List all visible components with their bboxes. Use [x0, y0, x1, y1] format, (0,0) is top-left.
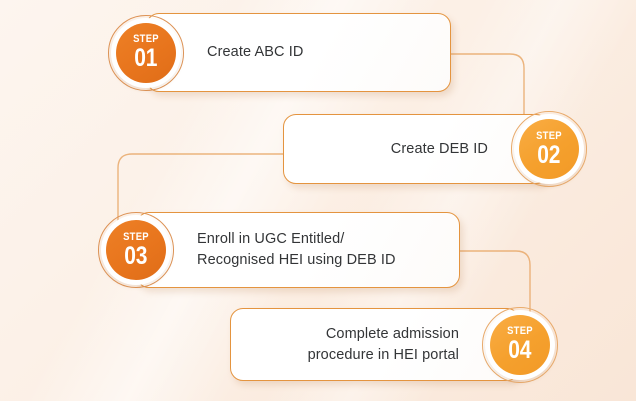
step-badge-1[interactable]: STEP 01: [108, 15, 184, 91]
step-badge-2[interactable]: STEP 02: [511, 111, 587, 187]
step-card-text-3: Enroll in UGC Entitled/ Recognised HEI u…: [197, 229, 396, 270]
step-row-3: Enroll in UGC Entitled/ Recognised HEI u…: [98, 212, 460, 288]
step-row-1: Create ABC ID STEP 01: [108, 13, 451, 92]
step-card-text-4: Complete admission procedure in HEI port…: [308, 324, 459, 365]
step-flow-diagram: Create ABC ID STEP 01 Create DEB ID STEP…: [0, 0, 636, 401]
step-badge-number-2: 02: [537, 143, 560, 168]
step-card-3[interactable]: Enroll in UGC Entitled/ Recognised HEI u…: [136, 212, 460, 288]
step-badge-number-4: 04: [508, 338, 531, 363]
step-card-text-1: Create ABC ID: [207, 42, 303, 63]
step-badge-4[interactable]: STEP 04: [482, 307, 558, 383]
step-card-4[interactable]: Complete admission procedure in HEI port…: [230, 308, 520, 381]
step-badge-3[interactable]: STEP 03: [98, 212, 174, 288]
step-card-text-2: Create DEB ID: [391, 139, 488, 160]
step-row-4: Complete admission procedure in HEI port…: [230, 308, 558, 381]
step-card-1[interactable]: Create ABC ID: [146, 13, 451, 92]
step-row-2: Create DEB ID STEP 02: [283, 114, 587, 184]
step-card-2[interactable]: Create DEB ID: [283, 114, 549, 184]
step-badge-number-1: 01: [134, 46, 157, 71]
step-badge-number-3: 03: [124, 244, 147, 269]
